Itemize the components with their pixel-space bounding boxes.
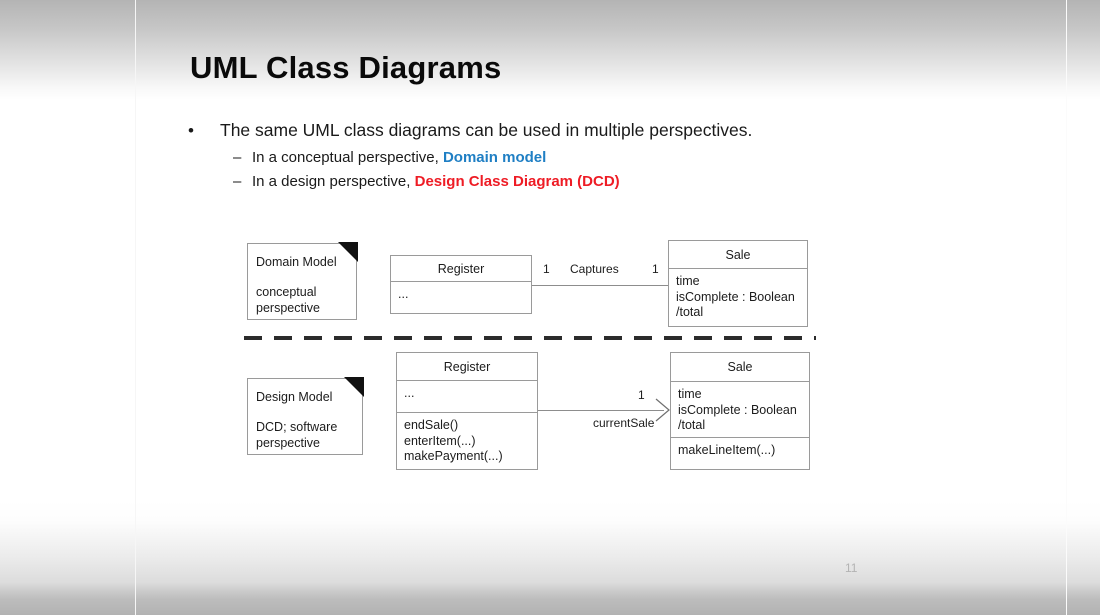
multiplicity-right-captures: 1 (652, 262, 659, 276)
note-fold-corner-icon (338, 242, 358, 262)
operations-sale-design: makeLineItem(...) (671, 438, 809, 464)
dash-marker-icon: – (233, 173, 252, 190)
association-line-captures (531, 285, 669, 286)
bullet-level2-design: –In a design perspective, Design Class D… (233, 173, 620, 190)
attributes-register-design: ... (397, 381, 537, 413)
class-box-sale-conceptual: Sale time isComplete : Boolean /total (668, 240, 808, 327)
note-fold-corner-icon (344, 377, 364, 397)
operation-item: makePayment(...) (404, 449, 537, 465)
attribute-item: isComplete : Boolean (676, 290, 807, 306)
association-label-currentsale: currentSale (593, 416, 654, 430)
right-edge-divider (1066, 0, 1067, 615)
top-gradient-band (0, 0, 1100, 100)
note-domain-model-title: Domain Model (256, 255, 337, 271)
domain-model-highlight: Domain model (443, 149, 546, 166)
slide-canvas: UML Class Diagrams •The same UML class d… (0, 0, 1100, 615)
left-edge-divider (135, 0, 136, 615)
multiplicity-right-currentsale: 1 (638, 388, 645, 402)
class-name-register-conceptual: Register (391, 256, 531, 282)
class-name-sale-design: Sale (671, 353, 809, 382)
note-design-model-subtitle: DCD; software perspective (256, 420, 337, 451)
perspective-separator (244, 336, 816, 340)
bullet-marker-icon: • (188, 121, 220, 141)
operation-item: makeLineItem(...) (678, 443, 809, 459)
operation-item: endSale() (404, 418, 537, 434)
note-domain-model-subtitle: conceptual perspective (256, 285, 320, 316)
bullet-level2-design-text: In a design perspective, (252, 173, 415, 190)
note-subtitle-line2: perspective (256, 301, 320, 317)
note-design-model-title: Design Model (256, 390, 332, 406)
bullet-level1: •The same UML class diagrams can be used… (188, 120, 752, 141)
dcd-highlight: Design Class Diagram (DCD) (415, 173, 620, 190)
attributes-sale-design: time isComplete : Boolean /total (671, 382, 809, 438)
bullet-level1-text: The same UML class diagrams can be used … (220, 120, 752, 140)
association-line-currentsale (538, 410, 664, 411)
bottom-gradient-band (0, 500, 1100, 615)
class-name-sale-conceptual: Sale (669, 241, 807, 269)
operation-item: enterItem(...) (404, 434, 537, 450)
operations-register-design: endSale() enterItem(...) makePayment(...… (397, 413, 537, 470)
dash-marker-icon: – (233, 149, 252, 166)
class-name-register-design: Register (397, 353, 537, 381)
note-subtitle-line2: perspective (256, 436, 337, 452)
page-number: 11 (845, 561, 857, 575)
attribute-item: ... (398, 287, 531, 303)
note-subtitle-line1: DCD; software (256, 420, 337, 436)
page-title: UML Class Diagrams (190, 50, 501, 86)
bullet-level2-conceptual-text: In a conceptual perspective, (252, 149, 443, 166)
attribute-item: /total (678, 418, 809, 434)
attribute-item: /total (676, 305, 807, 321)
class-box-register-conceptual: Register ... (390, 255, 532, 314)
attribute-item: time (676, 274, 807, 290)
note-design-model: Design Model DCD; software perspective (247, 378, 363, 455)
class-box-sale-design: Sale time isComplete : Boolean /total ma… (670, 352, 810, 470)
attribute-item: isComplete : Boolean (678, 403, 809, 419)
association-label-captures: Captures (570, 262, 619, 276)
class-box-register-design: Register ... endSale() enterItem(...) ma… (396, 352, 538, 470)
attribute-item: time (678, 387, 809, 403)
bullet-level2-conceptual: –In a conceptual perspective, Domain mod… (233, 149, 546, 166)
note-subtitle-line1: conceptual (256, 285, 320, 301)
attributes-sale-conceptual: time isComplete : Boolean /total (669, 269, 807, 326)
note-domain-model: Domain Model conceptual perspective (247, 243, 357, 320)
multiplicity-left-captures: 1 (543, 262, 550, 276)
attributes-register-conceptual: ... (391, 282, 531, 308)
attribute-item: ... (404, 386, 537, 402)
